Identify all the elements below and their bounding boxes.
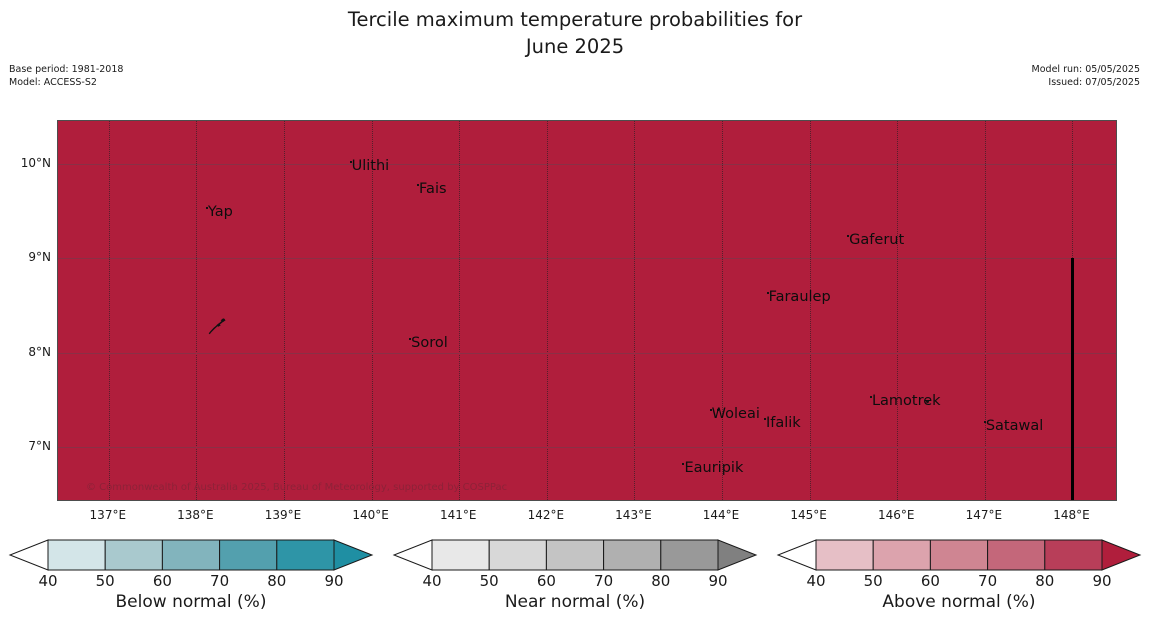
gridline-vertical bbox=[897, 121, 898, 500]
colorbar-tick-label: 60 bbox=[537, 574, 556, 589]
gridline-vertical bbox=[459, 121, 460, 500]
gridline-horizontal bbox=[58, 164, 1116, 165]
place-label: Sorol bbox=[411, 336, 448, 351]
colorbar-tick-label: 80 bbox=[267, 574, 286, 589]
place-label: Satawal bbox=[986, 419, 1043, 434]
latitude-tick-label: 10°N bbox=[21, 157, 51, 169]
colorbar-cell bbox=[489, 540, 546, 570]
colorbar-caption: Above normal (%) bbox=[776, 592, 1142, 612]
place-label: Faraulep bbox=[769, 290, 831, 305]
colorbar-tick-labels: 405060708090 bbox=[392, 574, 758, 592]
colorbar-tick-label: 50 bbox=[96, 574, 115, 589]
colorbar-caption: Below normal (%) bbox=[8, 592, 374, 612]
place-label: Yap bbox=[208, 205, 233, 220]
model-text: Model: ACCESS-S2 bbox=[9, 76, 123, 89]
longitude-tick-label: 145°E bbox=[790, 509, 827, 521]
colorbar-tick-label: 90 bbox=[324, 574, 343, 589]
colorbar-swatches bbox=[8, 538, 374, 572]
colorbar-tick-label: 90 bbox=[708, 574, 727, 589]
colorbar-extend-low bbox=[778, 540, 816, 570]
colorbar-tick-labels: 405060708090 bbox=[776, 574, 1142, 592]
colorbar-cell bbox=[604, 540, 661, 570]
gridline-vertical bbox=[810, 121, 811, 500]
longitude-tick-label: 148°E bbox=[1053, 509, 1090, 521]
colorbar-cell bbox=[277, 540, 334, 570]
colorbar-caption: Near normal (%) bbox=[392, 592, 758, 612]
colorbar-tick-label: 90 bbox=[1092, 574, 1111, 589]
colorbar-extend-high bbox=[1102, 540, 1140, 570]
colorbar-tick-label: 40 bbox=[806, 574, 825, 589]
latitude-tick-label: 8°N bbox=[28, 346, 51, 358]
place-label: Ulithi bbox=[352, 159, 390, 174]
colorbar-tick-label: 70 bbox=[210, 574, 229, 589]
colorbar-cell bbox=[220, 540, 277, 570]
colorbar-extend-high bbox=[718, 540, 756, 570]
colorbar-above-normal: 405060708090Above normal (%) bbox=[776, 538, 1142, 638]
gridline-vertical bbox=[284, 121, 285, 500]
colorbar-tick-label: 40 bbox=[422, 574, 441, 589]
gridline-horizontal bbox=[58, 353, 1116, 354]
colorbar-extend-low bbox=[10, 540, 48, 570]
colorbar-tick-label: 40 bbox=[38, 574, 57, 589]
colorbar-cell bbox=[432, 540, 489, 570]
latitude-tick-label: 9°N bbox=[28, 251, 51, 263]
longitude-tick-label: 140°E bbox=[352, 509, 389, 521]
place-label: Eauripik bbox=[684, 461, 743, 476]
colorbar-extend-high bbox=[334, 540, 372, 570]
colorbar-cell bbox=[48, 540, 105, 570]
longitude-tick-label: 139°E bbox=[265, 509, 302, 521]
gridline-horizontal bbox=[58, 447, 1116, 448]
longitude-tick-label: 146°E bbox=[878, 509, 915, 521]
colorbar-tick-label: 80 bbox=[651, 574, 670, 589]
colorbar-tick-label: 60 bbox=[921, 574, 940, 589]
longitude-tick-label: 138°E bbox=[177, 509, 214, 521]
longitude-tick-label: 137°E bbox=[90, 509, 127, 521]
colorbar-cell bbox=[988, 540, 1045, 570]
gridline-vertical bbox=[109, 121, 110, 500]
place-label: Gaferut bbox=[849, 233, 904, 248]
colorbar-cell bbox=[162, 540, 219, 570]
gridline-vertical bbox=[985, 121, 986, 500]
colorbar-cell bbox=[1045, 540, 1102, 570]
base-period-text: Base period: 1981-2018 bbox=[9, 63, 123, 76]
colorbar-near-normal: 405060708090Near normal (%) bbox=[392, 538, 758, 638]
gridline-vertical bbox=[722, 121, 723, 500]
colorbar-below-normal: 405060708090Below normal (%) bbox=[8, 538, 374, 638]
colorbar-cell bbox=[661, 540, 718, 570]
yap-island-shape bbox=[208, 316, 228, 336]
gridline-vertical bbox=[634, 121, 635, 500]
gridline-vertical bbox=[196, 121, 197, 500]
colorbar-extend-low bbox=[394, 540, 432, 570]
place-label: Woleai bbox=[712, 407, 760, 422]
longitude-tick-label: 141°E bbox=[440, 509, 477, 521]
colorbar-cell bbox=[816, 540, 873, 570]
model-run-text: Model run: 05/05/2025 bbox=[1032, 63, 1140, 76]
longitude-tick-label: 142°E bbox=[528, 509, 565, 521]
gridline-horizontal bbox=[58, 258, 1116, 259]
colorbar-tick-label: 50 bbox=[864, 574, 883, 589]
colorbar-tick-label: 50 bbox=[480, 574, 499, 589]
colorbar-cell bbox=[930, 540, 987, 570]
colorbar-tick-label: 70 bbox=[594, 574, 613, 589]
page-title: Tercile maximum temperature probabilitie… bbox=[0, 6, 1150, 60]
colorbar-tick-labels: 405060708090 bbox=[8, 574, 374, 592]
colorbar-tick-label: 80 bbox=[1035, 574, 1054, 589]
colorbar-tick-label: 60 bbox=[153, 574, 172, 589]
latitude-tick-label: 7°N bbox=[28, 440, 51, 452]
place-label: Fais bbox=[419, 182, 446, 197]
colorbar-tick-label: 70 bbox=[978, 574, 997, 589]
copyright-text: © Commonwealth of Australia 2025, Bureau… bbox=[86, 482, 507, 493]
map-panel[interactable]: YapUlithiFaisSorolGaferutFaraulepWoleaiI… bbox=[57, 120, 1117, 501]
colorbar-cell bbox=[105, 540, 162, 570]
colorbar-cell bbox=[873, 540, 930, 570]
gridline-vertical bbox=[547, 121, 548, 500]
gridline-vertical bbox=[372, 121, 373, 500]
longitude-tick-label: 147°E bbox=[966, 509, 1003, 521]
longitude-tick-label: 143°E bbox=[615, 509, 652, 521]
colorbar-cell bbox=[546, 540, 603, 570]
header-meta-left: Base period: 1981-2018 Model: ACCESS-S2 bbox=[9, 63, 123, 89]
header-meta-right: Model run: 05/05/2025 Issued: 07/05/2025 bbox=[1032, 63, 1140, 89]
longitude-tick-label: 144°E bbox=[703, 509, 740, 521]
place-label: Lamotrek bbox=[872, 394, 941, 409]
colorbar-swatches bbox=[776, 538, 1142, 572]
issued-text: Issued: 07/05/2025 bbox=[1032, 76, 1140, 89]
colorbar-swatches bbox=[392, 538, 758, 572]
coastline-boundary bbox=[1071, 258, 1074, 501]
place-label: Ifalik bbox=[766, 416, 801, 431]
